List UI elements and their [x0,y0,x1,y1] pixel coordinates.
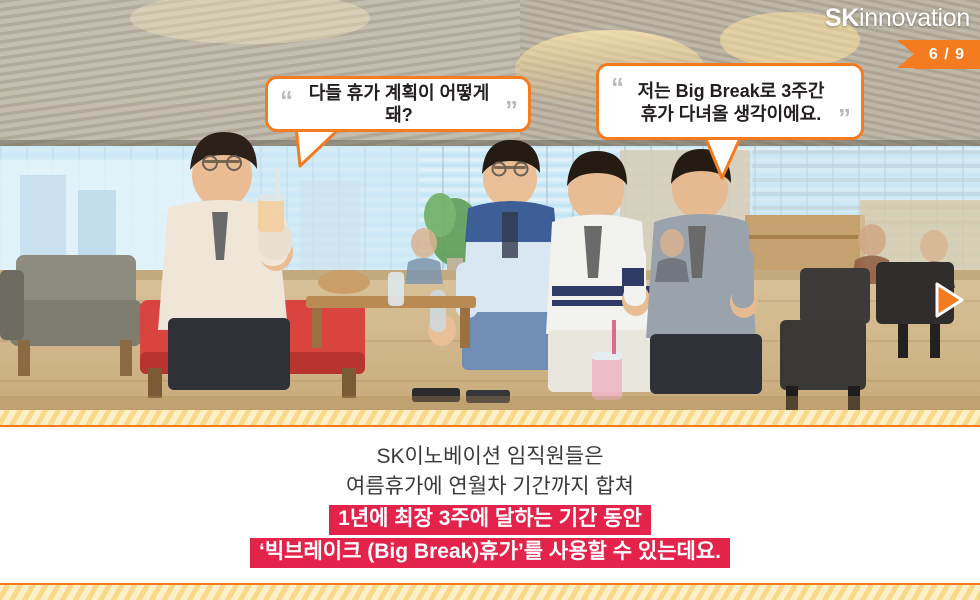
caption-line-2: 여름휴가에 연월차 기간까지 합쳐 [346,475,634,498]
caption-row: 1년에 최장 3주에 달하는 기간 동안 [0,502,980,535]
play-icon[interactable] [928,280,968,320]
speech-bubble-right-text: 저는 Big Break로 3주간 휴가 다녀올 생각이에요. [620,78,841,125]
brand-logo: SKinnovation [825,6,970,31]
brand-logo-innovation: innovation [859,4,970,32]
speech-bubble-right: “ 저는 Big Break로 3주간 휴가 다녀올 생각이에요. ” [596,63,864,140]
caption-line-4-highlighted: ‘빅브레이크 (Big Break)휴가’를 사용할 수 있는데요. [250,538,730,568]
speech-bubble-tail-left [290,126,350,170]
slide-card: SKinnovation 6 / 9 “ 다들 휴가 계획이 어떻게 돼? ” … [0,0,980,600]
quote-open-icon: “ [280,87,293,113]
photo-lounge-scene [0,0,980,412]
photo-illustration [0,0,980,412]
play-button[interactable] [928,280,968,320]
quote-open-icon: “ [611,74,624,100]
stripe-divider-bottom [0,583,980,600]
brand-logo-sk: SK [825,4,859,32]
page-indicator-ribbon: 6 / 9 [914,40,980,69]
speech-bubble-tail-right [700,134,756,184]
stripe-divider-top [0,410,980,427]
caption-line-3-highlighted: 1년에 최장 3주에 달하는 기간 동안 [329,505,651,535]
caption-row: ‘빅브레이크 (Big Break)휴가’를 사용할 수 있는데요. [0,535,980,568]
speech-bubble-left-text: 다들 휴가 계획이 어떻게 돼? [278,82,518,127]
caption-row: 여름휴가에 연월차 기간까지 합쳐 [0,472,980,502]
caption-line-1: SK이노베이션 임직원들은 [376,445,603,468]
ribbon-tail [897,40,914,68]
speech-bubble-left: “ 다들 휴가 계획이 어떻게 돼? ” [265,76,531,132]
quote-close-icon: ” [838,105,851,131]
caption-row: SK이노베이션 임직원들은 [0,442,980,472]
quote-close-icon: ” [505,97,518,123]
caption-block: SK이노베이션 임직원들은 여름휴가에 연월차 기간까지 합쳐 1년에 최장 3… [0,428,980,581]
page-indicator-label: 6 / 9 [914,40,980,69]
